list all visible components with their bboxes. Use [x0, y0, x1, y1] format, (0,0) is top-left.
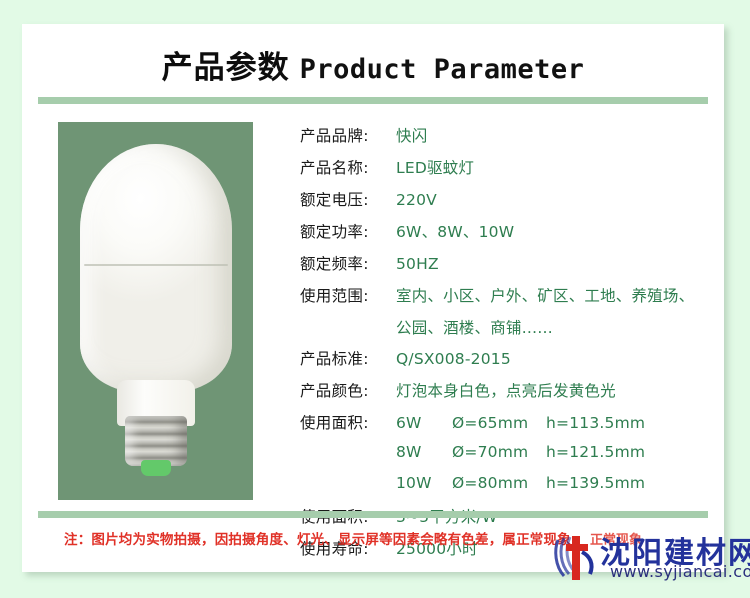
dimension-diameter: Ø=65mm: [452, 414, 546, 432]
dimension-height: h=113.5mm: [546, 414, 645, 432]
dimension-height: h=139.5mm: [546, 474, 645, 492]
dimension-watt: 6W: [396, 414, 452, 432]
spec-row-power: 额定功率: 6W、8W、10W: [300, 220, 710, 252]
spec-value: 50HZ: [396, 255, 439, 273]
spec-value: 6WØ=65mmh=113.5mm: [396, 414, 645, 432]
product-parameter-page: 产品参数Product Parameter 产品品牌: 快闪 产品名称:: [0, 0, 750, 598]
page-title-cn: 产品参数: [162, 50, 290, 86]
spec-label: 产品名称:: [300, 156, 396, 178]
spec-value: 220V: [396, 191, 437, 209]
spec-row-dimensions-10w: 10WØ=80mmh=139.5mm: [300, 474, 710, 505]
spec-value: 10WØ=80mmh=139.5mm: [396, 474, 645, 492]
bulb-seam: [84, 264, 228, 266]
led-bulb-illustration: [80, 144, 232, 392]
dimension-height: h=121.5mm: [546, 443, 645, 461]
spec-row-dimensions-8w: 8WØ=70mmh=121.5mm: [300, 443, 710, 474]
bulb-screw-base: [125, 416, 187, 466]
spec-row-standard: 产品标准: Q/SX008-2015: [300, 347, 710, 379]
page-title: 产品参数Product Parameter: [22, 42, 724, 87]
spec-label: 产品标准:: [300, 347, 396, 369]
spec-value: Q/SX008-2015: [396, 350, 511, 368]
bulb-green-tip: [141, 460, 171, 476]
spec-value: 快闪: [396, 124, 427, 146]
spec-label: 额定功率:: [300, 220, 396, 242]
spec-value: LED驱蚊灯: [396, 156, 474, 178]
spec-label: 使用范围:: [300, 284, 396, 306]
page-title-en: Product Parameter: [300, 54, 585, 85]
spec-label: 额定频率:: [300, 252, 396, 274]
spec-row-color: 产品颜色: 灯泡本身白色，点亮后发黄色光: [300, 379, 710, 411]
spec-value: 8WØ=70mmh=121.5mm: [396, 443, 645, 461]
spec-value: 灯泡本身白色，点亮后发黄色光: [396, 379, 616, 401]
spec-value: 6W、8W、10W: [396, 220, 514, 242]
spec-label: 使用面积:: [300, 411, 396, 433]
spec-label: 产品颜色:: [300, 379, 396, 401]
spec-value: 室内、小区、户外、矿区、工地、养殖场、: [396, 284, 694, 306]
product-photo: [58, 122, 253, 500]
specification-list: 产品品牌: 快闪 产品名称: LED驱蚊灯 额定电压: 220V 额定功率: 6…: [300, 124, 710, 569]
divider-top: [38, 97, 708, 104]
dimension-watt: 10W: [396, 474, 452, 492]
divider-bottom: [38, 511, 708, 518]
spec-row-usage-scope-cont: 公园、酒楼、商铺……: [300, 316, 710, 347]
content-card: 产品参数Product Parameter 产品品牌: 快闪 产品名称:: [22, 24, 724, 572]
spec-row-usage-scope: 使用范围: 室内、小区、户外、矿区、工地、养殖场、: [300, 284, 710, 316]
spec-label: 额定电压:: [300, 188, 396, 210]
spec-row-dimensions-6w: 使用面积: 6WØ=65mmh=113.5mm: [300, 411, 710, 443]
disclaimer-note: 注：图片均为实物拍摄，因拍摄角度、灯光、显示屏等因素会略有色差，属正常现象: [64, 528, 571, 548]
dimension-watt: 8W: [396, 443, 452, 461]
spec-row-voltage: 额定电压: 220V: [300, 188, 710, 220]
spec-row-name: 产品名称: LED驱蚊灯: [300, 156, 710, 188]
dimension-diameter: Ø=80mm: [452, 474, 546, 492]
spec-label: 产品品牌:: [300, 124, 396, 146]
dimension-diameter: Ø=70mm: [452, 443, 546, 461]
spec-row-frequency: 额定频率: 50HZ: [300, 252, 710, 284]
bulb-glass: [80, 144, 232, 392]
spec-value: 公园、酒楼、商铺……: [396, 316, 553, 338]
spec-row-brand: 产品品牌: 快闪: [300, 124, 710, 156]
